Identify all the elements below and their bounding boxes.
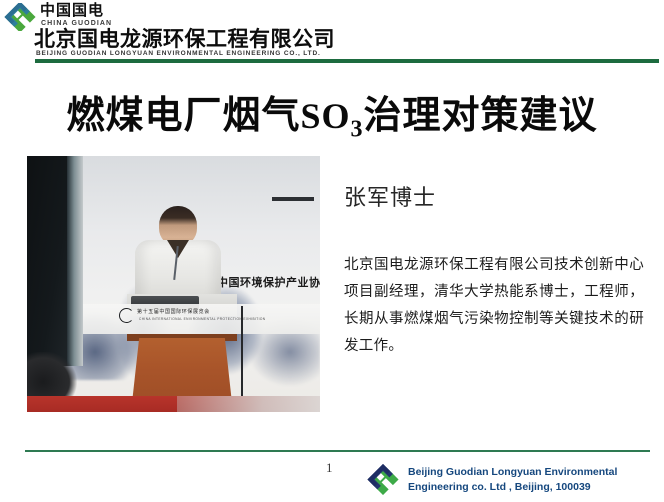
- speaker-photo: 中国环境保护产业协会 第十五届中国国际环保展览会 CHINA INTERNATI…: [27, 156, 320, 412]
- guodian-diamond-logo-icon: [4, 3, 36, 31]
- title-suffix: 治理对策建议: [364, 93, 598, 137]
- photo-banner-text-en: CHINA INTERNATIONAL ENVIRONMENTAL PROTEC…: [139, 317, 266, 321]
- title-prefix: 燃煤电厂烟气: [66, 93, 300, 137]
- photo-cable: [241, 306, 243, 398]
- footer-line-1: Beijing Guodian Longyuan Environmental: [408, 465, 617, 480]
- title-formula-base: SO: [300, 96, 350, 136]
- header-divider: [35, 59, 659, 63]
- page-title: 燃煤电厂烟气SO3治理对策建议: [0, 84, 664, 144]
- brand-name-english: CHINA GUODIAN: [41, 20, 112, 27]
- photo-banner-logo-icon: [119, 308, 134, 323]
- photo-banner-text-cn: 第十五届中国国际环保展览会: [137, 308, 210, 315]
- footer-divider: [25, 450, 650, 452]
- slide-header: 中国国电 CHINA GUODIAN 北京国电龙源环保工程有限公司 BEIJIN…: [0, 0, 664, 64]
- photo-wall-marker: [272, 197, 314, 201]
- brand-name-chinese: 中国国电: [40, 2, 104, 19]
- footer-company-address: Beijing Guodian Longyuan Environmental E…: [408, 465, 617, 495]
- footer-guodian-diamond-logo-icon: [366, 464, 400, 495]
- speaker-name: 张军博士: [344, 180, 436, 212]
- speaker-bio: 北京国电龙源环保工程有限公司技术创新中心项目副经理，清华大学热能系博士，工程师，…: [344, 252, 644, 360]
- company-name-chinese: 北京国电龙源环保工程有限公司: [34, 28, 335, 50]
- photo-backdrop-text: 中国环境保护产业协会: [217, 274, 320, 290]
- company-name-english: BEIJING GUODIAN LONGYUAN ENVIRONMENTAL E…: [36, 50, 321, 57]
- page-number: 1: [326, 460, 333, 476]
- photo-floor-highlight: [177, 396, 320, 412]
- footer-line-2: Engineering co. Ltd , Beijing, 100039: [408, 480, 617, 495]
- title-formula-subscript: 3: [351, 117, 364, 143]
- photo-projection-screen-edge: [67, 156, 83, 366]
